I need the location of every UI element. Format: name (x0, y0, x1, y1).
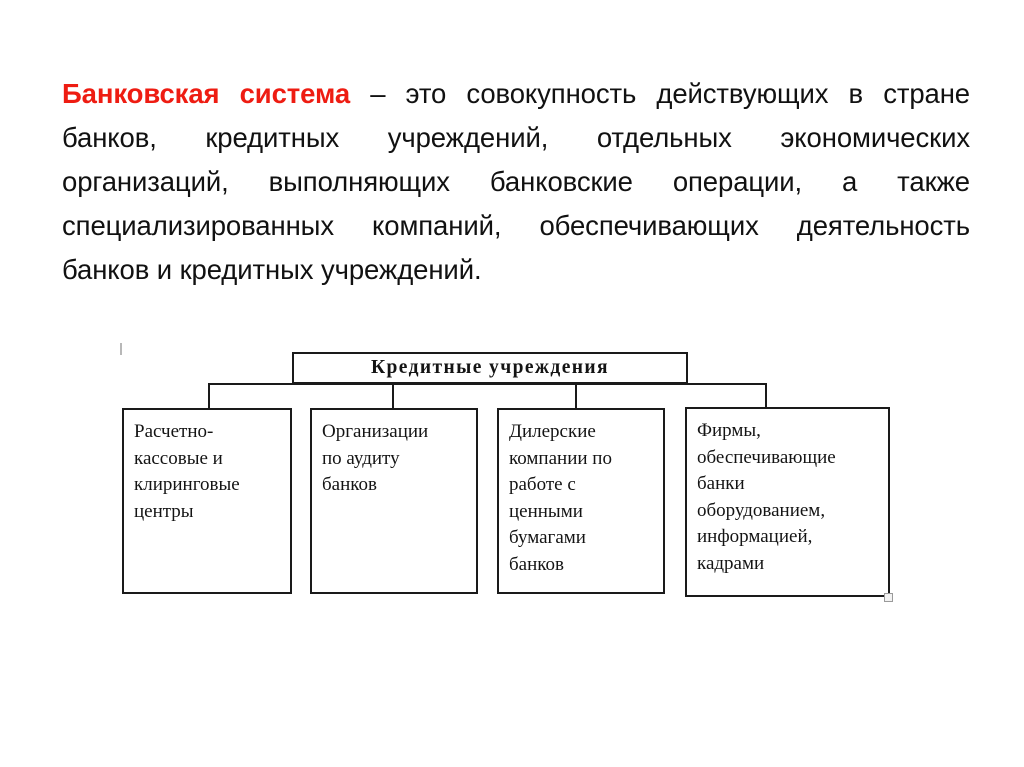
connector-drop-2 (392, 383, 394, 408)
connector-drop-3 (575, 383, 577, 408)
diagram-node-label: Расчетно- кассовые и клиринговые центры (134, 419, 290, 525)
diagram-node-label: Организации по аудиту банков (322, 419, 476, 499)
stray-tick-artifact (120, 343, 122, 355)
diagram-node-root-label: Кредитные учреждения (371, 357, 609, 379)
selection-handle-bottom-right[interactable] (884, 593, 893, 602)
connector-drop-1 (208, 383, 210, 408)
definition-paragraph: Банковская система – это совокупность де… (62, 72, 970, 292)
diagram-node-label: Дилерские компании по работе с ценными б… (509, 419, 663, 578)
diagram-node-bank-audit-organizations[interactable]: Организации по аудиту банков (310, 408, 478, 594)
diagram-node-dealer-companies[interactable]: Дилерские компании по работе с ценными б… (497, 408, 665, 594)
definition-term: Банковская система (62, 78, 350, 109)
connector-drop-4 (765, 383, 767, 407)
diagram-node-label: Фирмы, обеспечивающие банки оборудование… (697, 418, 888, 577)
diagram-node-support-firms[interactable]: Фирмы, обеспечивающие банки оборудование… (685, 407, 890, 597)
diagram-node-settlement-clearing-centers[interactable]: Расчетно- кассовые и клиринговые центры (122, 408, 292, 594)
diagram-node-root[interactable]: Кредитные учреждения (292, 352, 688, 384)
